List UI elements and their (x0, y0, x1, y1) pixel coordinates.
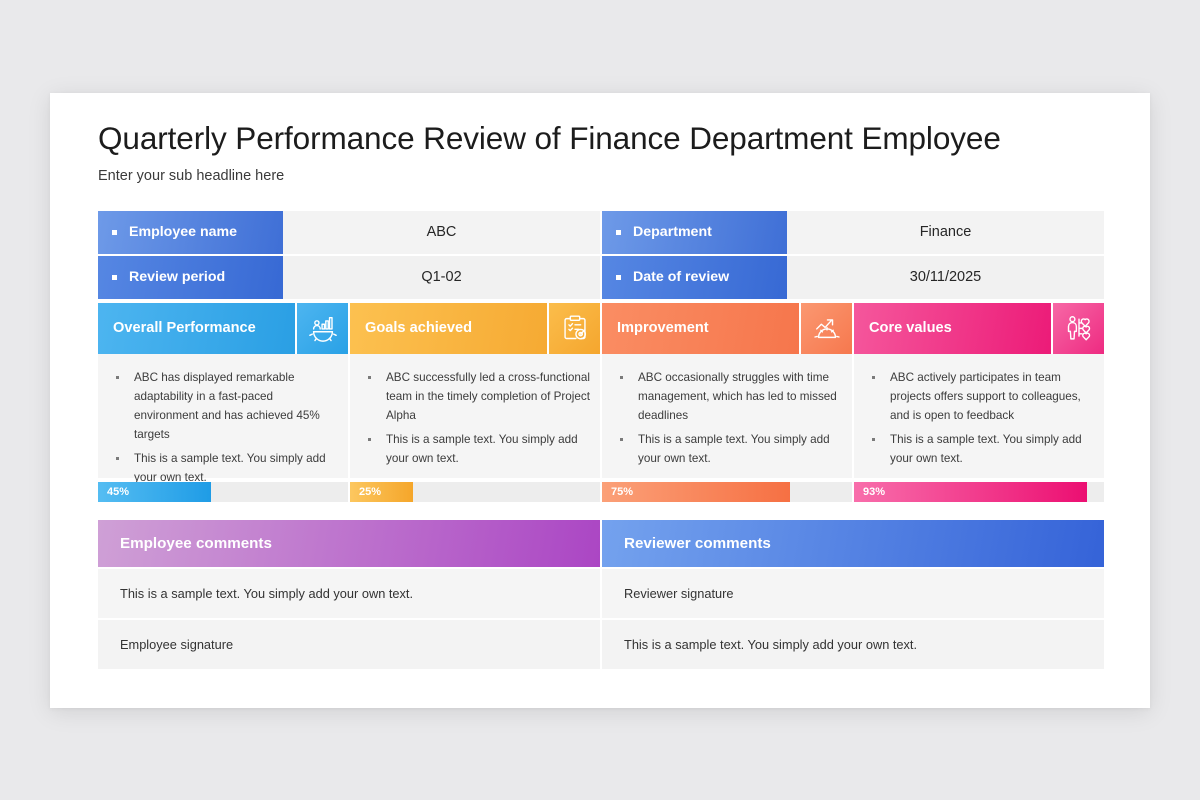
reviewer-comments-column: Reviewer comments Reviewer signature Thi… (602, 520, 1104, 669)
category-title: Core values (854, 303, 1051, 354)
category-body: ABC successfully led a cross-functional … (350, 354, 600, 478)
clipboard-checklist-target-icon (549, 303, 600, 354)
list-item: This is a sample text. You simply add yo… (358, 430, 590, 468)
reviewer-signature-field[interactable]: Reviewer signature (602, 569, 1104, 618)
category-title: Overall Performance (98, 303, 295, 354)
list-item: This is a sample text. You simply add yo… (610, 430, 842, 468)
info-row: Review period Q1-02 (98, 256, 600, 299)
info-value-review-period: Q1-02 (283, 256, 600, 299)
category-body: ABC actively participates in team projec… (854, 354, 1104, 478)
info-label-department: Department (602, 211, 787, 254)
category-header: Goals achieved (350, 303, 600, 354)
square-bullet-icon (616, 230, 621, 235)
progress-track-core-values: 93% (854, 482, 1104, 502)
category-title: Improvement (602, 303, 799, 354)
progress-fill: 75% (602, 482, 790, 502)
employee-comment-text[interactable]: This is a sample text. You simply add yo… (98, 569, 600, 618)
info-value-date-of-review: 30/11/2025 (787, 256, 1104, 299)
info-table-left: Employee name ABC Review period Q1-02 (98, 211, 600, 299)
growth-arrow-gear-icon (801, 303, 852, 354)
category-core-values: Core values ABC activ (854, 303, 1104, 502)
employee-comments-heading: Employee comments (98, 520, 600, 567)
category-header: Improvement (602, 303, 852, 354)
list-item: ABC actively participates in team projec… (862, 368, 1094, 425)
reviewer-comments-heading: Reviewer comments (602, 520, 1104, 567)
square-bullet-icon (112, 230, 117, 235)
employee-comments-column: Employee comments This is a sample text.… (98, 520, 600, 669)
category-header: Core values (854, 303, 1104, 354)
person-hearts-icon (1053, 303, 1104, 354)
performance-categories: Overall Performance (98, 303, 1104, 502)
category-overall-performance: Overall Performance (98, 303, 348, 502)
square-bullet-icon (112, 275, 117, 280)
progress-track-goals-achieved: 25% (350, 482, 600, 502)
list-item: This is a sample text. You simply add yo… (862, 430, 1094, 468)
category-bullet-list: ABC has displayed remarkable adaptabilit… (106, 368, 338, 487)
square-bullet-icon (616, 275, 621, 280)
info-row: Employee name ABC (98, 211, 600, 254)
category-improvement: Improvement ABC occasionally struggl (602, 303, 852, 502)
page-title: Quarterly Performance Review of Finance … (98, 120, 1104, 156)
category-header: Overall Performance (98, 303, 348, 354)
employee-signature-field[interactable]: Employee signature (98, 620, 600, 669)
list-item: ABC occasionally struggles with time man… (610, 368, 842, 425)
slide-canvas: Quarterly Performance Review of Finance … (50, 93, 1150, 708)
progress-fill: 25% (350, 482, 413, 502)
comments-section: Employee comments This is a sample text.… (98, 520, 1104, 669)
page-subtitle: Enter your sub headline here (98, 168, 1104, 184)
info-label-text: Employee name (129, 224, 237, 240)
category-body: ABC occasionally struggles with time man… (602, 354, 852, 478)
category-bullet-list: ABC occasionally struggles with time man… (610, 368, 842, 468)
category-title: Goals achieved (350, 303, 547, 354)
info-value-department: Finance (787, 211, 1104, 254)
info-row: Department Finance (602, 211, 1104, 254)
category-bullet-list: ABC actively participates in team projec… (862, 368, 1094, 468)
reviewer-comment-text[interactable]: This is a sample text. You simply add yo… (602, 620, 1104, 669)
info-label-text: Date of review (633, 269, 729, 285)
info-label-review-period: Review period (98, 256, 283, 299)
progress-track-improvement: 75% (602, 482, 852, 502)
progress-fill: 93% (854, 482, 1087, 502)
info-table-right: Department Finance Date of review 30/11/… (602, 211, 1104, 299)
info-label-text: Review period (129, 269, 225, 285)
category-bullet-list: ABC successfully led a cross-functional … (358, 368, 590, 468)
info-row: Date of review 30/11/2025 (602, 256, 1104, 299)
list-item: ABC successfully led a cross-functional … (358, 368, 590, 425)
person-bar-chart-gear-icon (297, 303, 348, 354)
employee-info-tables: Employee name ABC Review period Q1-02 (98, 211, 1104, 299)
progress-fill: 45% (98, 482, 211, 502)
progress-track-overall-performance: 45% (98, 482, 348, 502)
info-label-employee-name: Employee name (98, 211, 283, 254)
category-goals-achieved: Goals achieved (350, 303, 600, 502)
info-label-date-of-review: Date of review (602, 256, 787, 299)
info-label-text: Department (633, 224, 712, 240)
category-body: ABC has displayed remarkable adaptabilit… (98, 354, 348, 478)
info-value-employee-name: ABC (283, 211, 600, 254)
list-item: ABC has displayed remarkable adaptabilit… (106, 368, 338, 444)
